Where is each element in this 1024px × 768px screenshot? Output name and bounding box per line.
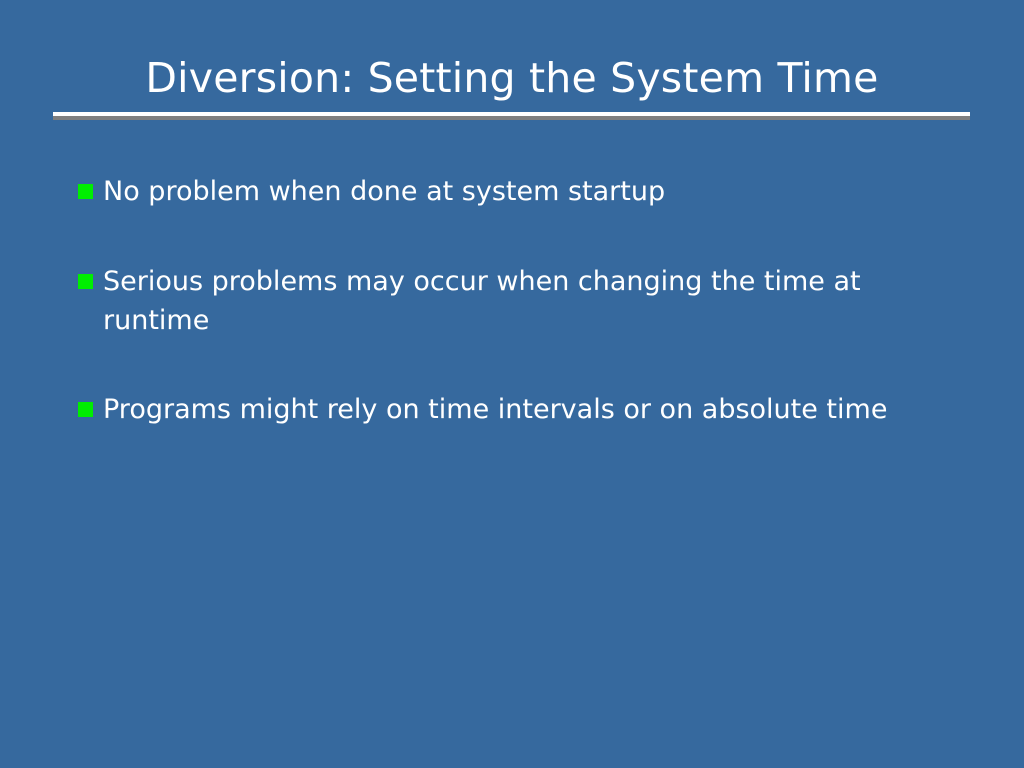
title-block: Diversion: Setting the System Time — [53, 48, 971, 110]
list-item-label: Programs might rely on time intervals or… — [103, 390, 934, 429]
list-item: Serious problems may occur when changing… — [78, 262, 934, 340]
list-item-label: No problem when done at system startup — [103, 172, 934, 211]
page-title: Diversion: Setting the System Time — [53, 48, 971, 108]
square-bullet-icon — [78, 184, 93, 199]
bullet-list: No problem when done at system startup S… — [78, 172, 934, 429]
list-item: No problem when done at system startup — [78, 172, 934, 211]
list-item: Programs might rely on time intervals or… — [78, 390, 934, 429]
square-bullet-icon — [78, 274, 93, 289]
presentation-slide: Diversion: Setting the System Time No pr… — [0, 0, 1024, 768]
list-item-label: Serious problems may occur when changing… — [103, 262, 934, 340]
square-bullet-icon — [78, 402, 93, 417]
title-underline-rule-shadow — [53, 116, 970, 120]
